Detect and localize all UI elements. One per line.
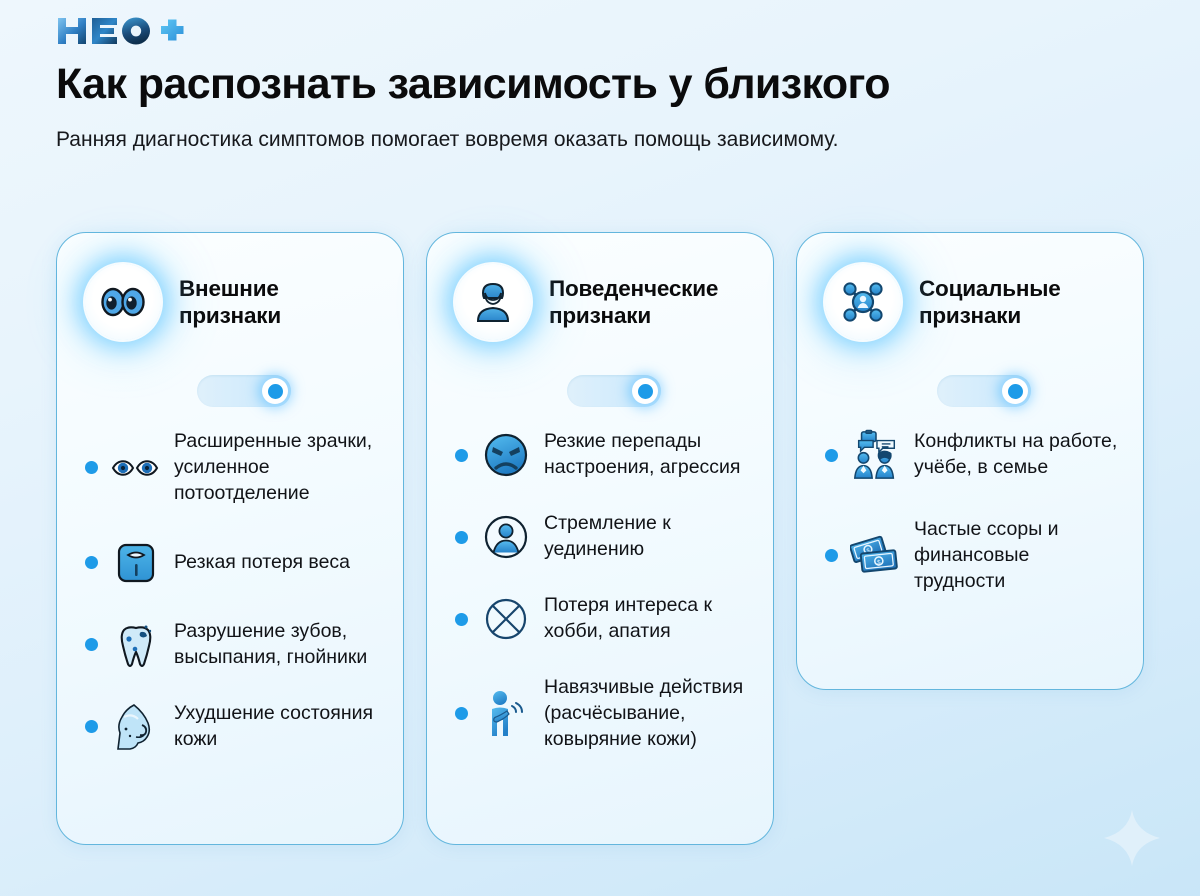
toggle-row — [81, 375, 379, 407]
list-item-text: Разрушение зубов, высыпания, гнойники — [174, 619, 379, 671]
card-header: Поведенческие признаки — [451, 263, 749, 341]
list-item[interactable]: Резкие перепады настроения, агрессия — [451, 429, 749, 481]
network-nodes-icon — [825, 264, 901, 340]
bullet-dot — [825, 549, 838, 562]
list-item-text: Стремление к уединению — [544, 511, 749, 563]
person-avatar-icon — [455, 264, 531, 340]
list-item[interactable]: Ухудшение состояния кожи — [81, 701, 379, 753]
person-circle-icon — [480, 511, 532, 563]
list-item[interactable]: Стремление к уединению — [451, 511, 749, 563]
signs-list: Резкие перепады настроения, агрессия Стр… — [451, 429, 749, 753]
decayed-tooth-icon — [110, 619, 162, 671]
list-item-text: Расширенные зрачки, усиленное потоотделе… — [174, 429, 379, 507]
list-item-text: Ухудшение состояния кожи — [174, 701, 379, 753]
scratching-person-icon — [480, 688, 532, 740]
eyes-icon — [85, 264, 161, 340]
toggle-row — [451, 375, 749, 407]
dilated-pupils-eyes-icon — [110, 442, 162, 494]
card-toggle-switch[interactable] — [567, 375, 661, 407]
bullet-dot — [455, 613, 468, 626]
bullet-dot — [455, 449, 468, 462]
list-item[interactable]: Конфликты на работе, учёбе, в семье — [821, 429, 1119, 481]
list-item[interactable]: Навязчивые действия (расчёсывание, ковыр… — [451, 675, 749, 753]
list-item[interactable]: Разрушение зубов, высыпания, гнойники — [81, 619, 379, 671]
toggle-row — [821, 375, 1119, 407]
toggle-knob — [262, 378, 288, 404]
signs-list: Конфликты на работе, учёбе, в семье $ — [821, 429, 1119, 595]
bullet-dot — [85, 638, 98, 651]
brand-logo[interactable]: НЕО+ — [56, 14, 1200, 48]
banknotes-money-icon: $ $ — [850, 530, 902, 582]
signs-list: Расширенные зрачки, усиленное потоотделе… — [81, 429, 379, 753]
bullet-dot — [85, 720, 98, 733]
list-item-text: Конфликты на работе, учёбе, в семье — [914, 429, 1119, 481]
list-item[interactable]: Расширенные зрачки, усиленное потоотделе… — [81, 429, 379, 507]
page-header: НЕО+ Как распознать зависимость у близко… — [0, 0, 1200, 155]
toggle-knob — [1002, 378, 1028, 404]
list-item[interactable]: Потеря интереса к хобби, апатия — [451, 593, 749, 645]
page-title: Как распознать зависимость у близкого — [56, 62, 1200, 108]
card-external-signs[interactable]: Внешние признаки Расширенные зрачки, у — [56, 232, 404, 845]
bullet-dot — [825, 449, 838, 462]
bullet-dot — [85, 556, 98, 569]
toggle-knob — [632, 378, 658, 404]
card-toggle-switch[interactable] — [937, 375, 1031, 407]
card-header: Внешние признаки — [81, 263, 379, 341]
card-title: Внешние признаки — [179, 275, 379, 330]
neo-plus-logo-icon — [56, 15, 188, 47]
card-header: Социальные признаки — [821, 263, 1119, 341]
bullet-dot — [455, 707, 468, 720]
list-item-text: Частые ссоры и финансовые трудности — [914, 517, 1119, 595]
card-title: Социальные признаки — [919, 275, 1119, 330]
cards-row: Внешние признаки Расширенные зрачки, у — [56, 232, 1144, 845]
list-item[interactable]: $ $ Частые ссоры и финансовые трудности — [821, 517, 1119, 595]
bullet-dot — [455, 531, 468, 544]
angry-face-icon — [480, 429, 532, 481]
weight-scale-icon — [110, 537, 162, 589]
bullet-dot — [85, 461, 98, 474]
list-item-text: Навязчивые действия (расчёсывание, ковыр… — [544, 675, 749, 753]
list-item-text: Резкие перепады настроения, агрессия — [544, 429, 749, 481]
card-toggle-switch[interactable] — [197, 375, 291, 407]
card-title: Поведенческие признаки — [549, 275, 749, 330]
list-item-text: Потеря интереса к хобби, апатия — [544, 593, 749, 645]
page-subtitle: Ранняя диагностика симптомов помогает во… — [56, 124, 956, 155]
people-conflict-chat-icon — [850, 429, 902, 481]
crossed-circle-icon — [480, 593, 532, 645]
card-behavioral-signs[interactable]: Поведенческие признаки — [426, 232, 774, 845]
face-skin-icon — [110, 701, 162, 753]
card-social-signs[interactable]: Социальные признаки — [796, 232, 1144, 690]
list-item-text: Резкая потеря веса — [174, 550, 350, 576]
list-item[interactable]: Резкая потеря веса — [81, 537, 379, 589]
